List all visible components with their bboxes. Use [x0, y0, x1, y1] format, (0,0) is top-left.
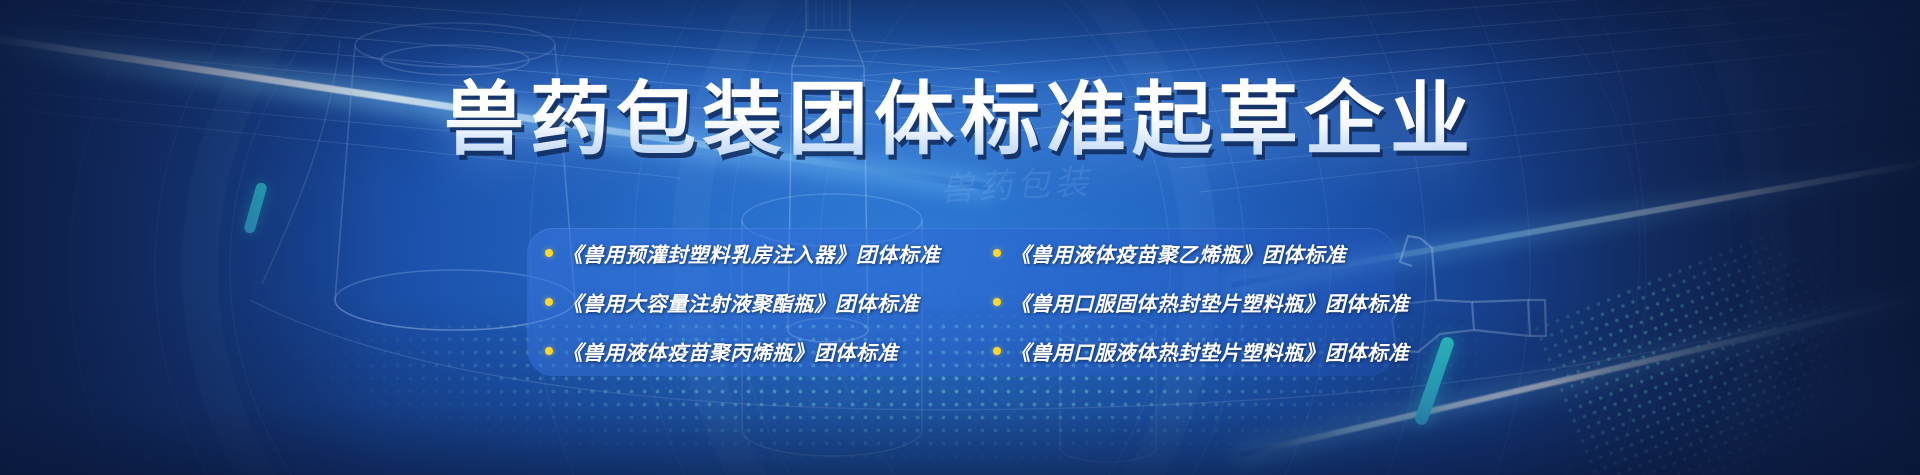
standard-label: 《兽用预灌封塑料乳房注入器》团体标准	[562, 238, 940, 268]
bullet-dot-icon	[545, 249, 553, 257]
list-item: 《兽用液体疫苗聚乙烯瓶》团体标准	[975, 238, 1457, 268]
list-item: 《兽用液体疫苗聚丙烯瓶》团体标准	[527, 336, 975, 366]
list-item: 《兽用口服固体热封垫片塑料瓶》团体标准	[975, 287, 1457, 317]
page-title: 兽药包装团体标准起草企业	[0, 74, 1920, 166]
standard-label: 《兽用口服固体热封垫片塑料瓶》团体标准	[1010, 287, 1409, 317]
list-item: 《兽用预灌封塑料乳房注入器》团体标准	[527, 238, 975, 268]
promotional-banner: 兽药包装 兽药包装团体标准起草企业 《兽用预灌封塑料乳房注入器》团体标准 《兽用…	[0, 0, 1920, 475]
standards-list: 《兽用预灌封塑料乳房注入器》团体标准 《兽用液体疫苗聚乙烯瓶》团体标准 《兽用大…	[527, 228, 1457, 376]
standard-label: 《兽用液体疫苗聚乙烯瓶》团体标准	[1010, 238, 1346, 268]
standard-label: 《兽用口服液体热封垫片塑料瓶》团体标准	[1010, 336, 1409, 366]
bullet-dot-icon	[545, 298, 553, 306]
standard-label: 《兽用大容量注射液聚酯瓶》团体标准	[562, 287, 919, 317]
list-item: 《兽用口服液体热封垫片塑料瓶》团体标准	[975, 336, 1457, 366]
bullet-dot-icon	[993, 249, 1001, 257]
bullet-dot-icon	[993, 347, 1001, 355]
bullet-dot-icon	[545, 347, 553, 355]
standard-label: 《兽用液体疫苗聚丙烯瓶》团体标准	[562, 336, 898, 366]
bullet-dot-icon	[993, 298, 1001, 306]
list-item: 《兽用大容量注射液聚酯瓶》团体标准	[527, 287, 975, 317]
